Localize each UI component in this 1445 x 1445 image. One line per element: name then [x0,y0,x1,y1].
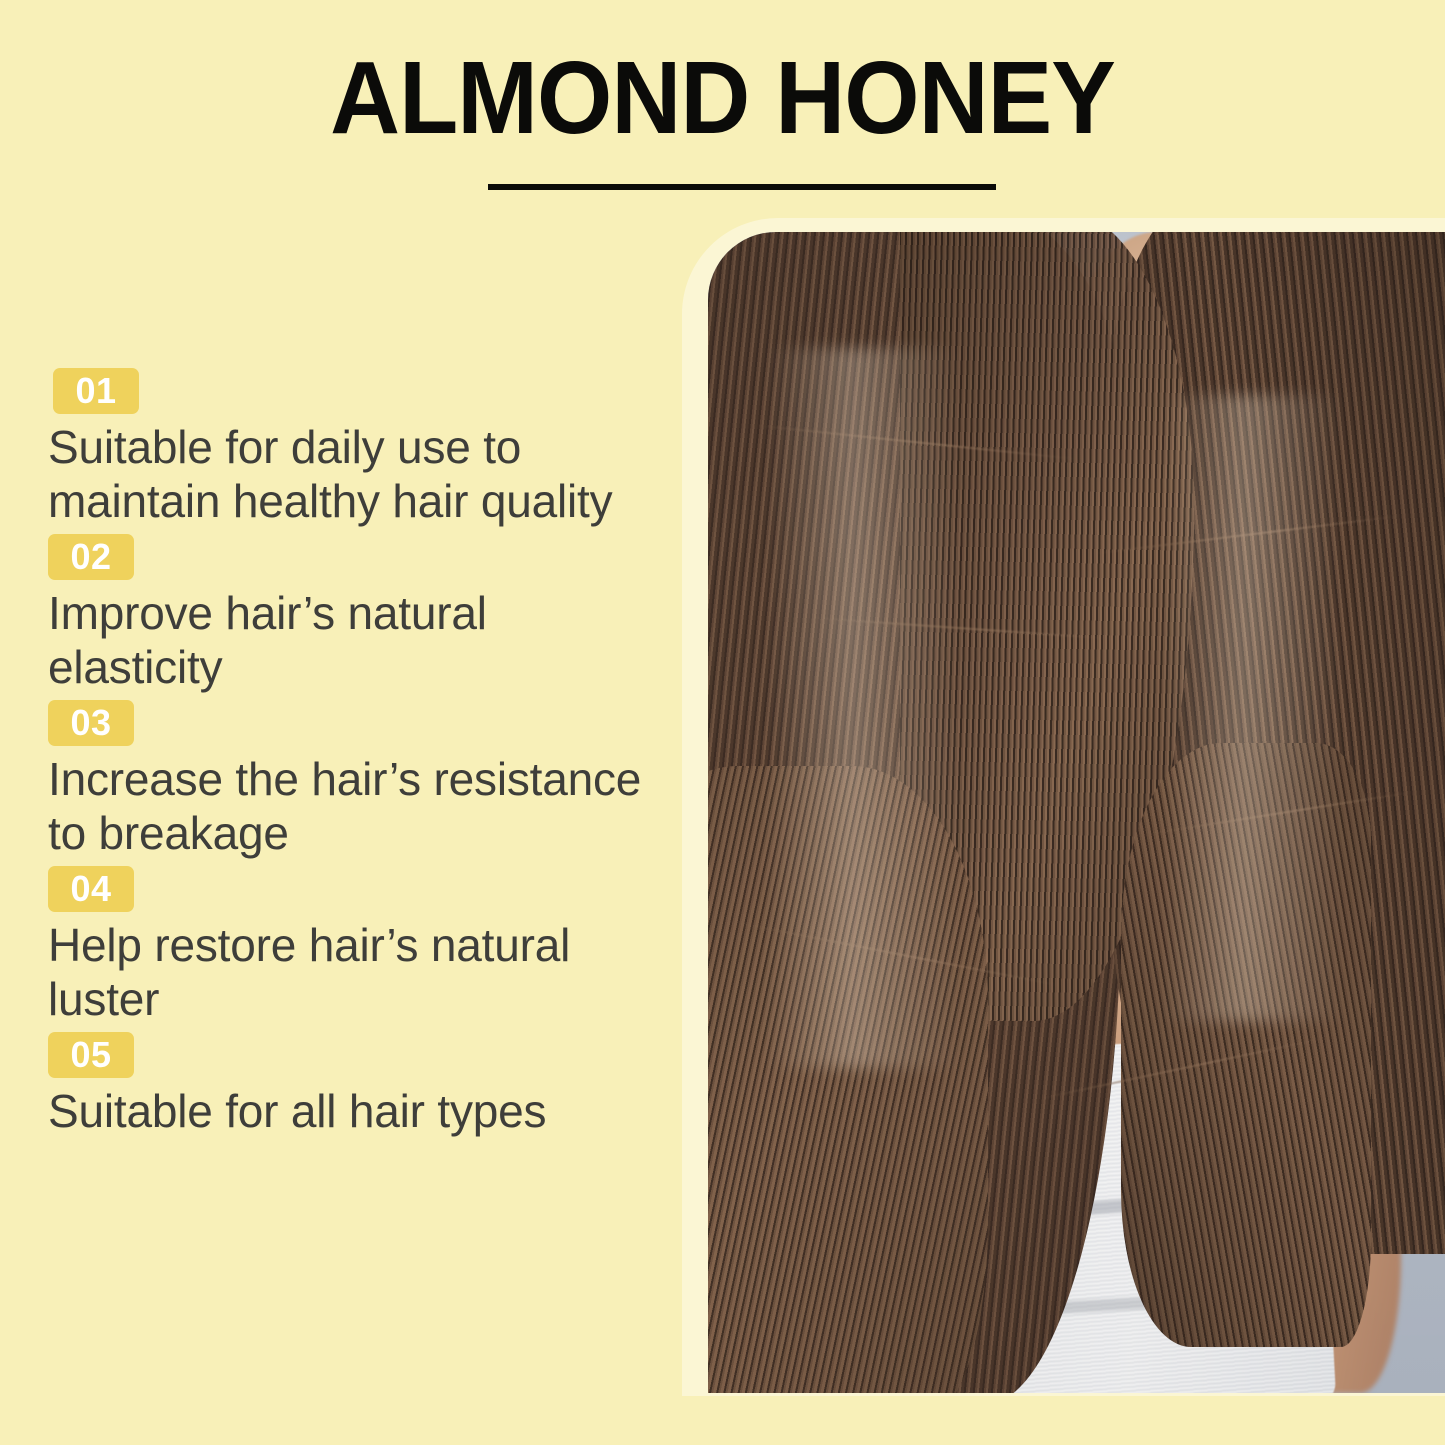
feature-text-01: Suitable for daily use to maintain healt… [48,420,648,528]
feature-badge-05: 05 [48,1032,134,1078]
feature-list: 01 Suitable for daily use to maintain he… [48,368,668,1144]
feature-item-01: 01 Suitable for daily use to maintain he… [48,368,668,528]
infographic-canvas: ALMOND HONEY 01 Suitable for daily use t… [0,0,1445,1445]
page-title: ALMOND HONEY [43,44,1401,152]
feature-item-05: 05 Suitable for all hair types [48,1032,668,1138]
feature-text-03: Increase the hair’s resistance to breaka… [48,752,648,860]
title-underline-rule [488,184,996,190]
feature-badge-01: 01 [53,368,139,414]
feature-text-04: Help restore hair’s natural luster [48,918,648,1026]
feature-item-03: 03 Increase the hair’s resistance to bre… [48,700,668,860]
model-photo [708,232,1445,1393]
feature-badge-04: 04 [48,866,134,912]
hair-mass-lower-left [708,766,988,1393]
feature-text-05: Suitable for all hair types [48,1084,648,1138]
feature-item-02: 02 Improve hair’s natural elasticity [48,534,668,694]
feature-badge-02: 02 [48,534,134,580]
feature-badge-03: 03 [48,700,134,746]
title-block: ALMOND HONEY [0,44,1445,152]
feature-item-04: 04 Help restore hair’s natural luster [48,866,668,1026]
feature-text-02: Improve hair’s natural elasticity [48,586,648,694]
